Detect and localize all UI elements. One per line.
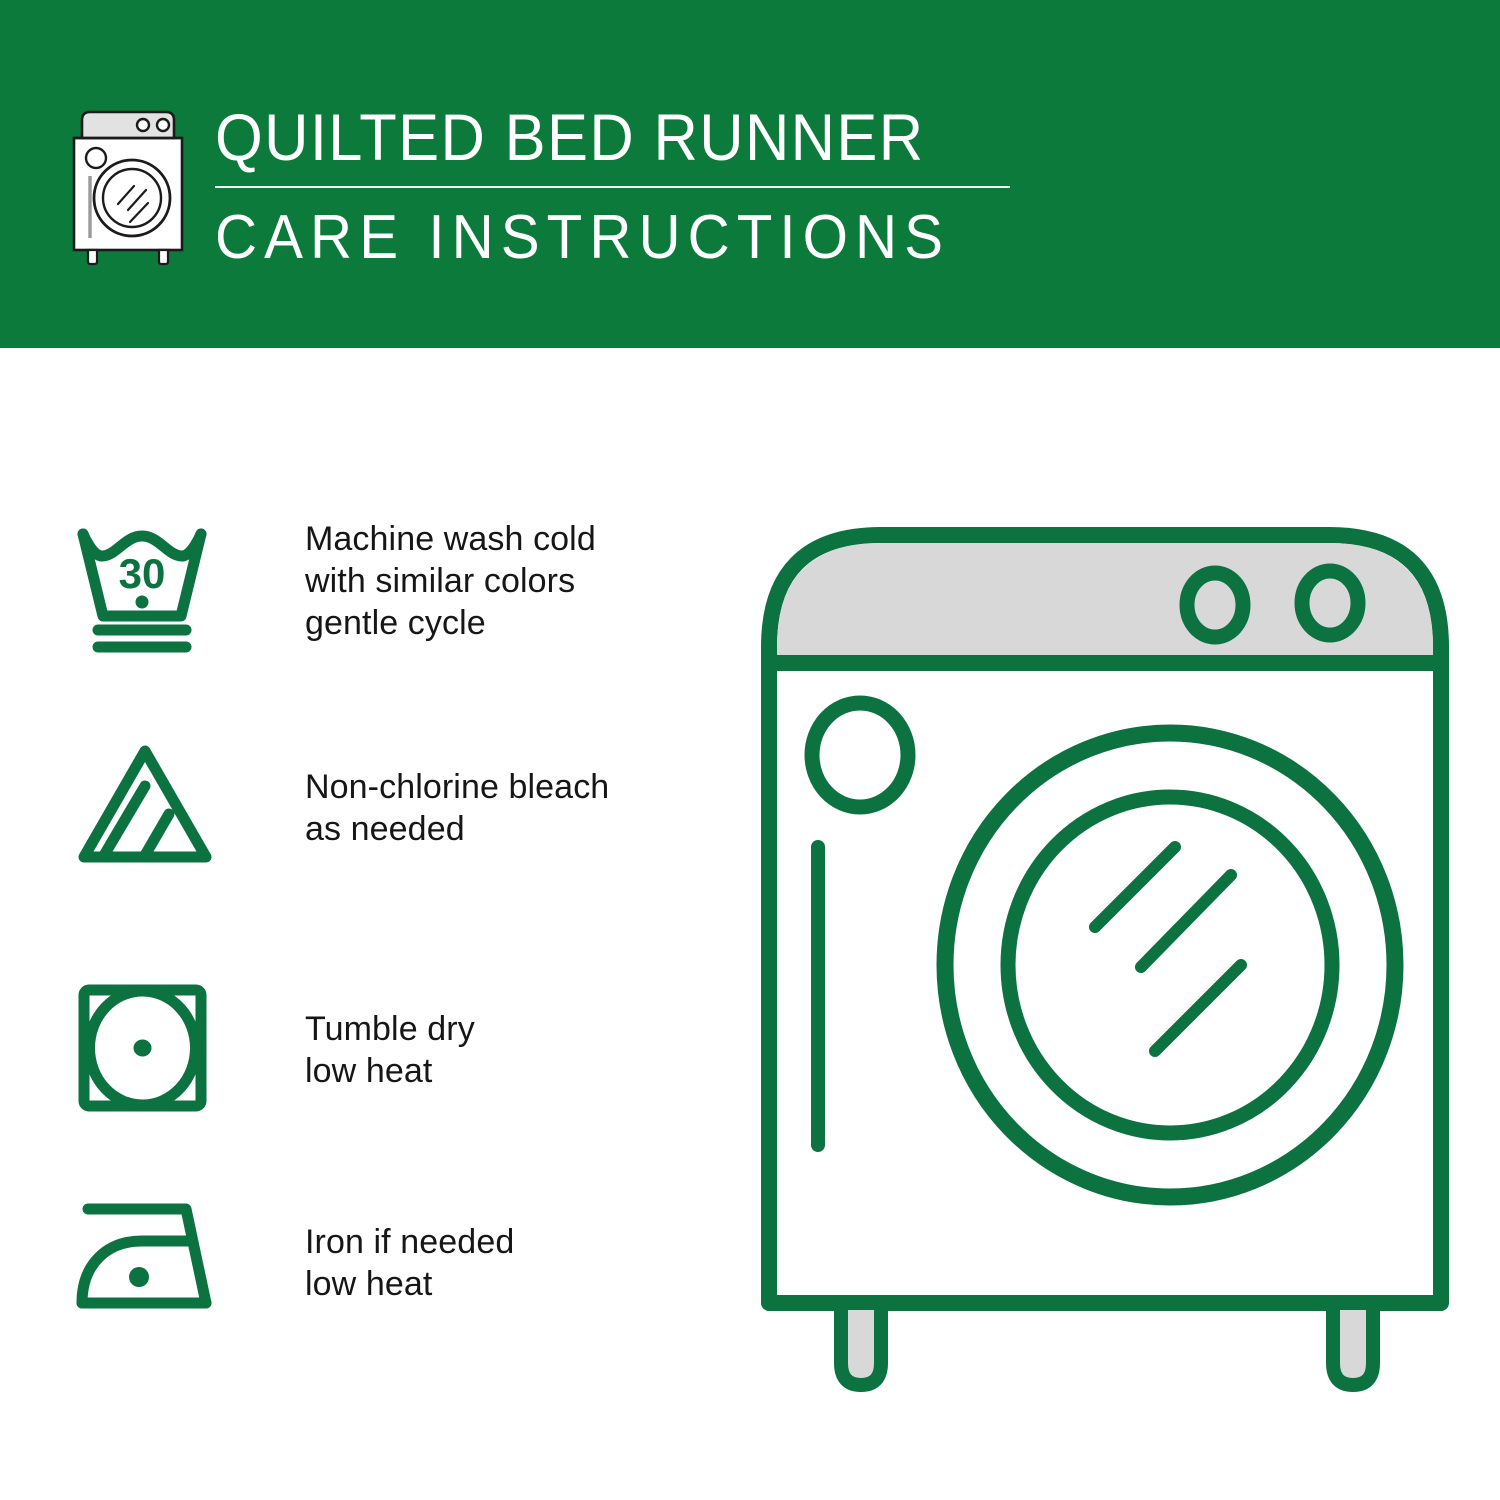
title-divider <box>215 186 1010 188</box>
wash-tub-30-gentle-icon: 30 <box>70 516 240 661</box>
washer-dispenser <box>812 703 908 807</box>
non-chlorine-bleach-triangle-icon <box>70 738 240 870</box>
care-item-label: Machine wash cold with similar colors ge… <box>305 518 596 644</box>
header-text-block: QUILTED BED RUNNER CARE INSTRUCTIONS <box>215 98 1025 274</box>
care-instructions-card: QUILTED BED RUNNER CARE INSTRUCTIONS <box>0 0 1500 1500</box>
washer-knob-right <box>1302 571 1358 635</box>
page-title: QUILTED BED RUNNER <box>215 98 968 176</box>
washer-leg-left <box>841 1303 881 1385</box>
care-item-label: Tumble dry low heat <box>305 1008 475 1092</box>
care-item-tumble-dry: Tumble dry low heat <box>70 978 690 1118</box>
care-item-label: Non-chlorine bleach as needed <box>305 766 609 850</box>
care-item-iron: Iron if needed low heat <box>70 1193 690 1321</box>
page-subtitle: CARE INSTRUCTIONS <box>215 202 976 274</box>
header-banner: QUILTED BED RUNNER CARE INSTRUCTIONS <box>0 0 1500 348</box>
washer-leg-right <box>1333 1303 1373 1385</box>
care-instruction-list: 30 Machine wash cold with similar colors… <box>0 348 700 1500</box>
care-item-label: Iron if needed low heat <box>305 1221 514 1305</box>
washing-machine-icon <box>60 104 196 266</box>
care-item-bleach: Non-chlorine bleach as needed <box>70 738 690 870</box>
washer-knob-left <box>1187 573 1243 637</box>
front-load-washing-machine-illustration <box>745 495 1465 1405</box>
care-item-machine-wash: 30 Machine wash cold with similar colors… <box>70 516 690 661</box>
iron-low-heat-icon <box>70 1193 240 1321</box>
tumble-dry-low-icon <box>70 978 240 1118</box>
wash-temperature-label: 30 <box>119 550 166 597</box>
